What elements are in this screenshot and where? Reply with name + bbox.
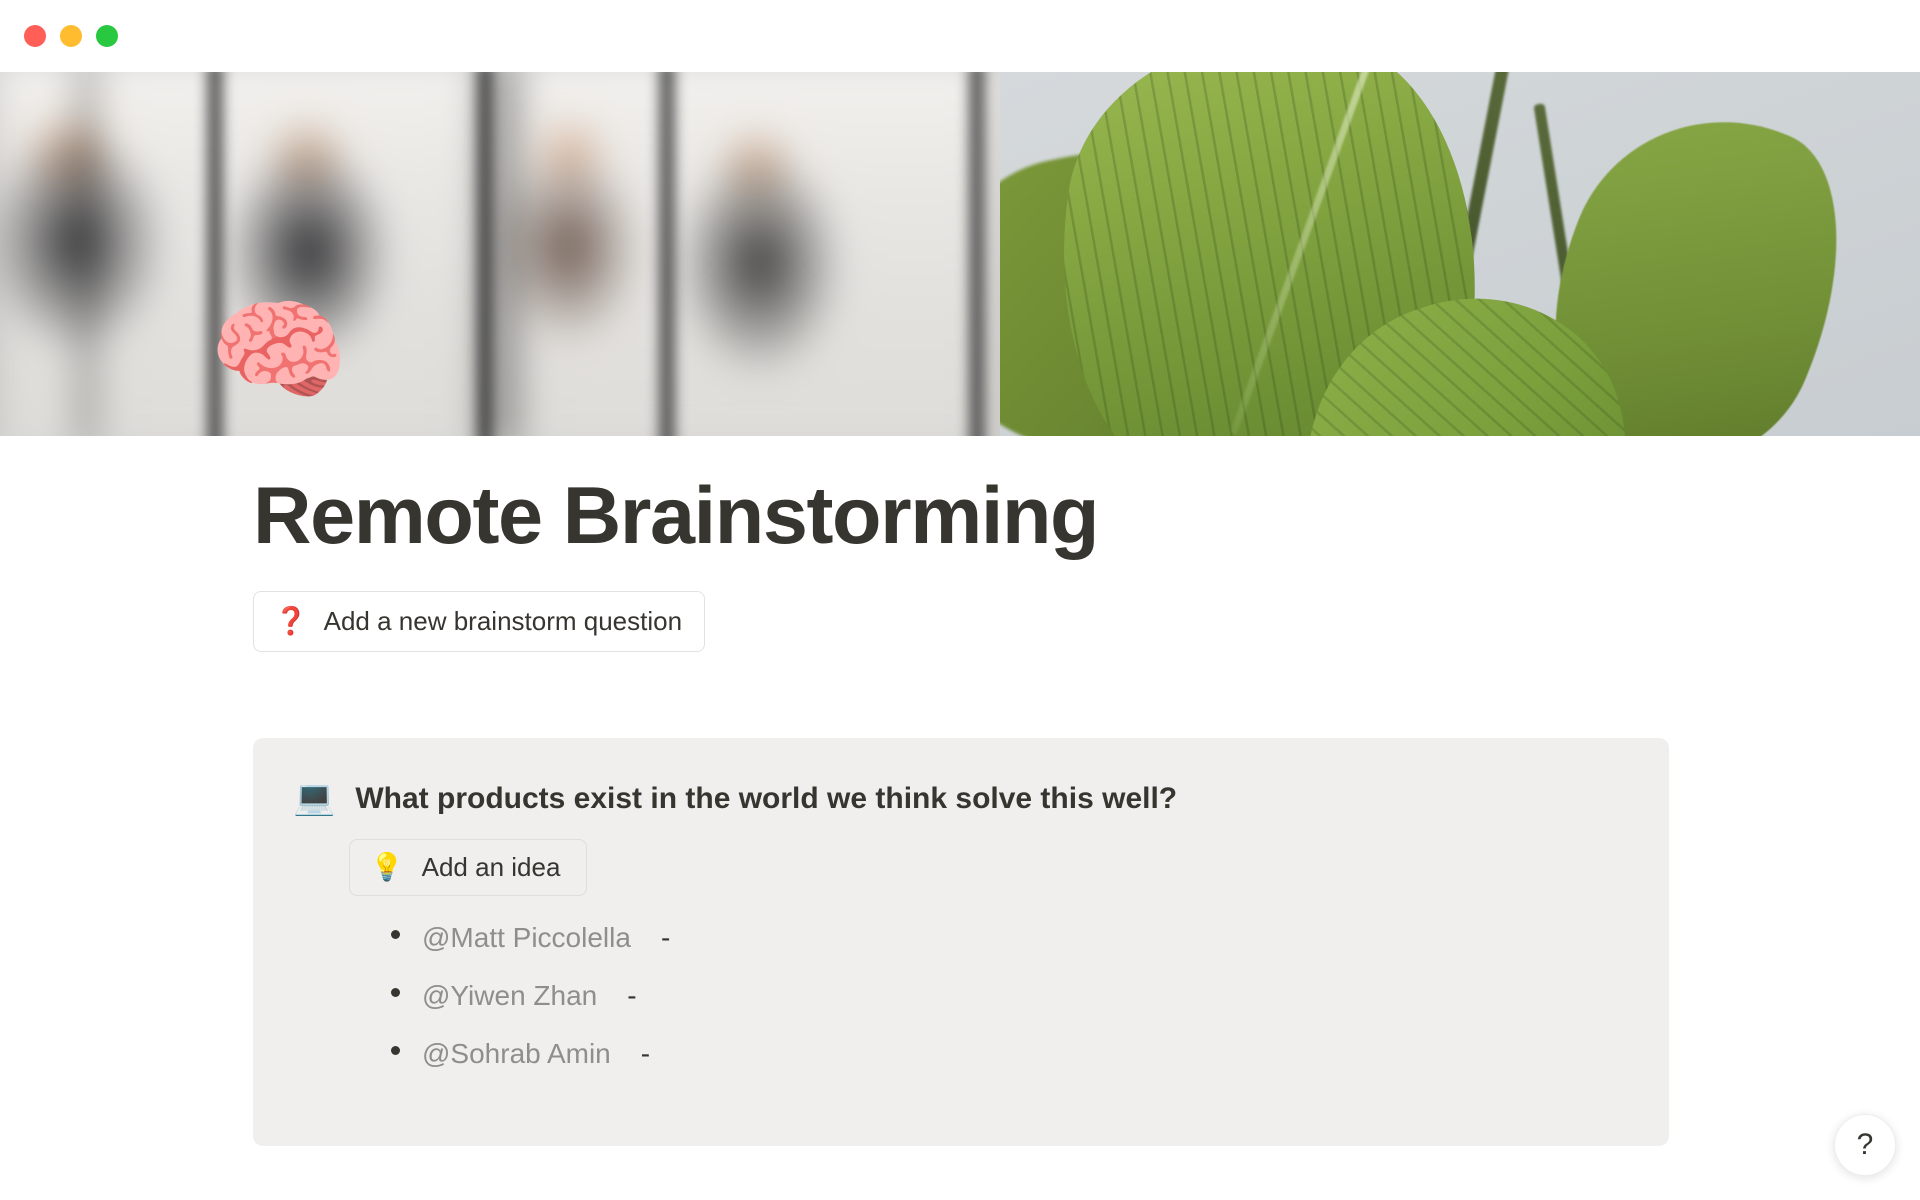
- close-window-button[interactable]: [24, 25, 46, 47]
- cover-plant-scene: [1000, 72, 1920, 436]
- laptop-emoji: 💻: [293, 780, 335, 817]
- idea-dash: -: [641, 1038, 650, 1070]
- list-item[interactable]: @Sohrab Amin -: [391, 1038, 1629, 1070]
- lightbulb-icon: 💡: [370, 854, 404, 881]
- help-button[interactable]: ?: [1834, 1114, 1896, 1176]
- window-titlebar: [0, 0, 1920, 72]
- bullet-icon: [391, 1046, 400, 1055]
- idea-dash: -: [661, 922, 670, 954]
- question-title[interactable]: What products exist in the world we thin…: [355, 780, 1177, 817]
- add-brainstorm-question-label: Add a new brainstorm question: [324, 606, 682, 637]
- idea-list: @Matt Piccolella - @Yiwen Zhan - @Sohrab…: [391, 922, 1629, 1070]
- page-content: Remote Brainstorming ❓ Add a new brainst…: [253, 436, 1669, 1146]
- monitor-bezel: [660, 72, 674, 436]
- thought-question-icon: ❓: [274, 608, 308, 635]
- list-item[interactable]: @Matt Piccolella -: [391, 922, 1629, 954]
- question-header: 💻 What products exist in the world we th…: [293, 780, 1629, 817]
- bullet-icon: [391, 988, 400, 997]
- add-brainstorm-question-button[interactable]: ❓ Add a new brainstorm question: [253, 591, 705, 652]
- bullet-icon: [391, 930, 400, 939]
- add-idea-label: Add an idea: [422, 852, 561, 883]
- page-title[interactable]: Remote Brainstorming: [253, 474, 1669, 559]
- monitor-bezel: [970, 72, 984, 436]
- traffic-lights: [24, 25, 118, 47]
- mention-label[interactable]: @Matt Piccolella: [422, 922, 631, 954]
- question-card: 💻 What products exist in the world we th…: [253, 738, 1669, 1146]
- list-item[interactable]: @Yiwen Zhan -: [391, 980, 1629, 1012]
- mention-label[interactable]: @Sohrab Amin: [422, 1038, 611, 1070]
- question-mark-icon: ?: [1857, 1128, 1874, 1162]
- brain-emoji[interactable]: 🧠: [209, 295, 348, 407]
- idea-dash: -: [627, 980, 636, 1012]
- minimize-window-button[interactable]: [60, 25, 82, 47]
- mention-label[interactable]: @Yiwen Zhan: [422, 980, 597, 1012]
- monitor-bezel: [478, 72, 492, 436]
- page-body: Remote Brainstorming ❓ Add a new brainst…: [0, 436, 1920, 1200]
- add-idea-button[interactable]: 💡 Add an idea: [349, 839, 587, 896]
- maximize-window-button[interactable]: [96, 25, 118, 47]
- cover-video-call-grid: [0, 72, 1030, 436]
